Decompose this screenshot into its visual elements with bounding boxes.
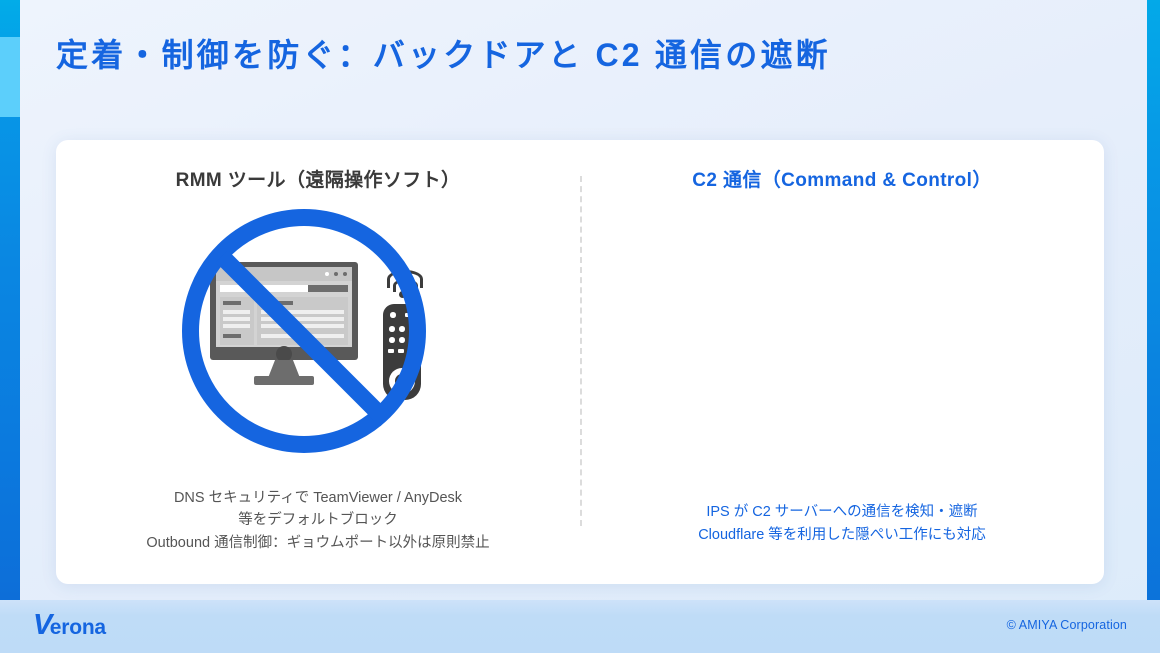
content-card: RMM ツール（遠隔操作ソフト） [56, 140, 1104, 584]
column-rmm: RMM ツール（遠隔操作ソフト） [56, 140, 580, 584]
verona-logo-text: erona [50, 617, 106, 638]
verona-logo: V erona [33, 611, 106, 641]
slide-footer: V erona © AMIYA Corporation [0, 600, 1160, 653]
slide: 定着・制御を防ぐ：バックドアと C2 通信の遮断 RMM ツール（遠隔操作ソフト… [0, 0, 1160, 653]
column-c2-caption: IPS が C2 サーバーへの通信を検知・遮断 Cloudflare 等を利用し… [580, 501, 1104, 546]
column-c2-heading: C2 通信（Command & Control） [580, 165, 1104, 192]
copyright-text: © AMIYA Corporation [1007, 618, 1127, 632]
slide-header: 定着・制御を防ぐ：バックドアと C2 通信の遮断 [0, 0, 1160, 118]
column-rmm-heading: RMM ツール（遠隔操作ソフト） [56, 165, 580, 192]
severed-c2-connection-illustration [1104, 260, 1160, 420]
column-rmm-caption: DNS セキュリティで TeamViewer / AnyDesk 等をデフォルト… [56, 487, 580, 554]
blocked-remote-access-illustration [106, 202, 526, 492]
column-c2: C2 通信（Command & Control） [580, 140, 1104, 584]
page-title: 定着・制御を防ぐ：バックドアと C2 通信の遮断 [56, 30, 831, 76]
